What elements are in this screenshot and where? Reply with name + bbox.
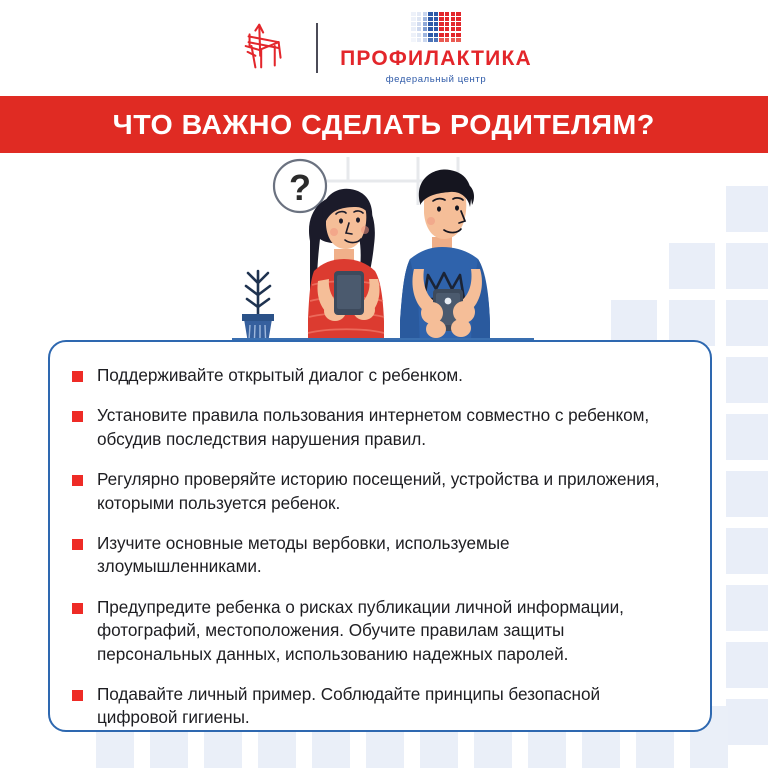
recommendations-list: Поддерживайте открытый диалог с ребенком… [72, 364, 676, 730]
list-item: Установите правила пользования интернето… [72, 404, 676, 451]
bg-square [726, 699, 768, 745]
page-title: ЧТО ВАЖНО СДЕЛАТЬ РОДИТЕЛЯМ? [113, 109, 655, 141]
bg-square [726, 186, 768, 232]
bullet-square-icon [72, 475, 83, 486]
brand-block: ПРОФИЛАКТИКА федеральный центр [340, 12, 532, 84]
brand-name: ПРОФИЛАКТИКА [340, 48, 532, 69]
bg-square [726, 585, 768, 631]
bullet-square-icon [72, 371, 83, 382]
chair-logo-icon [236, 17, 298, 79]
bullet-square-icon [72, 539, 83, 550]
teen-and-parent-with-phones-illustration: ? [228, 153, 538, 348]
bg-square [726, 528, 768, 574]
svg-text:?: ? [289, 167, 311, 208]
list-item-text: Регулярно проверяйте историю посещений, … [97, 468, 676, 515]
list-item: Подавайте личный пример. Соблюдайте прин… [72, 683, 676, 730]
recommendations-card: Поддерживайте открытый диалог с ребенком… [48, 340, 712, 732]
bg-square [669, 243, 715, 289]
bg-square [726, 357, 768, 403]
list-item-text: Поддерживайте открытый диалог с ребенком… [97, 364, 463, 387]
pixel-flag-grid-icon [411, 12, 460, 42]
potted-plant [242, 271, 274, 343]
bg-square [726, 243, 768, 289]
header-logo-bar: ПРОФИЛАКТИКА федеральный центр [0, 0, 768, 96]
brand-subtitle: федеральный центр [386, 75, 487, 85]
bullet-square-icon [72, 690, 83, 701]
list-item-text: Установите правила пользования интернето… [97, 404, 676, 451]
list-item-text: Предупредите ребенка о рисках публикации… [97, 596, 676, 666]
list-item: Регулярно проверяйте историю посещений, … [72, 468, 676, 515]
bg-square [726, 414, 768, 460]
bullet-square-icon [72, 603, 83, 614]
bg-square [726, 300, 768, 346]
title-banner: ЧТО ВАЖНО СДЕЛАТЬ РОДИТЕЛЯМ? [0, 96, 768, 153]
bg-square [726, 642, 768, 688]
list-item: Изучите основные методы вербовки, исполь… [72, 532, 676, 579]
girl-figure [308, 189, 384, 348]
poster-canvas: ПРОФИЛАКТИКА федеральный центр ЧТО ВАЖНО… [0, 0, 768, 768]
list-item-text: Подавайте личный пример. Соблюдайте прин… [97, 683, 676, 730]
logo-lockup: ПРОФИЛАКТИКА федеральный центр [236, 12, 532, 84]
list-item: Поддерживайте открытый диалог с ребенком… [72, 364, 676, 387]
logo-divider [316, 23, 318, 73]
bullet-square-icon [72, 411, 83, 422]
boy-figure [400, 170, 490, 348]
list-item-text: Изучите основные методы вербовки, исполь… [97, 532, 676, 579]
list-item: Предупредите ребенка о рисках публикации… [72, 596, 676, 666]
bg-square [726, 471, 768, 517]
